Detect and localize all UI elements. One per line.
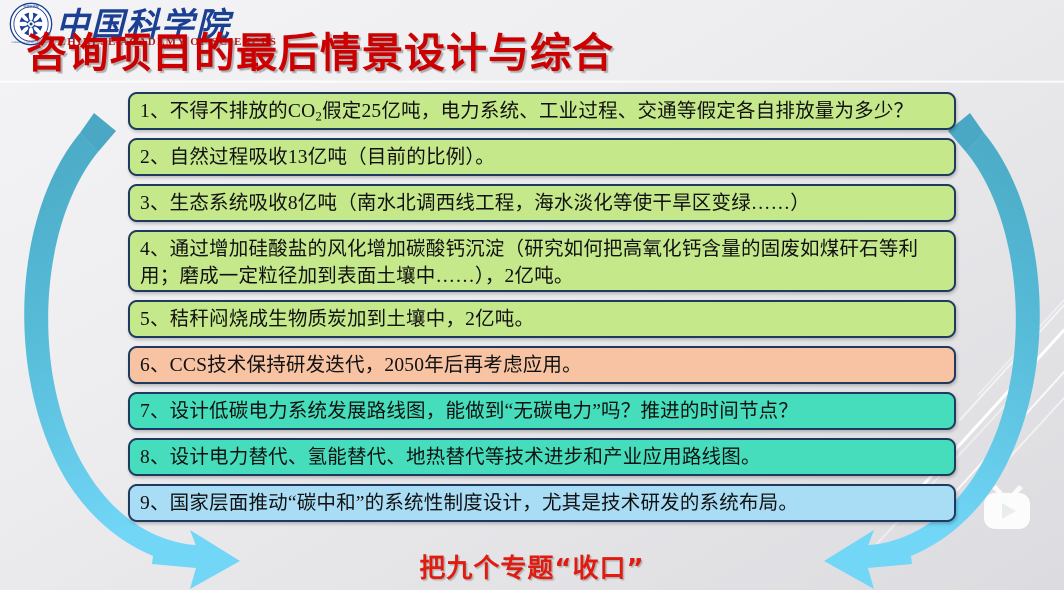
list-item-2[interactable]: 2、自然过程吸收13亿吨（目前的比例）。	[128, 138, 956, 176]
list-item-7[interactable]: 7、设计低碳电力系统发展路线图，能做到“无碳电力”吗？推进的时间节点？	[128, 392, 956, 430]
list-item-6[interactable]: 6、CCS技术保持研发迭代，2050年后再考虑应用。	[128, 346, 956, 384]
list-item-1-text-b: 假定25亿吨，电力系统、工业过程、交通等假定各自排放量为多少？	[322, 101, 913, 122]
list-item-4[interactable]: 4、通过增加硅酸盐的风化增加碳酸钙沉淀（研究如何把高氧化钙含量的固废如煤矸石等利…	[128, 230, 956, 292]
footer-summary-text: 把九个专题“收口”	[0, 548, 1064, 585]
page-title: 咨询项目的最后情景设计与综合	[26, 30, 614, 76]
list-item-9[interactable]: 9、国家层面推动“碳中和”的系统性制度设计，尤其是技术研发的系统布局。	[128, 484, 956, 522]
list-item-5[interactable]: 5、秸秆闷烧成生物质炭加到土壤中，2亿吨。	[128, 300, 956, 338]
topics-list: 1、不得不排放的CO2假定25亿吨，电力系统、工业过程、交通等假定各自排放量为多…	[128, 92, 956, 530]
list-item-1-text-a: 不得不排放的CO	[170, 101, 316, 122]
list-item-1[interactable]: 1、不得不排放的CO2假定25亿吨，电力系统、工业过程、交通等假定各自排放量为多…	[128, 92, 956, 130]
bilibili-tv-play-watermark	[979, 481, 1035, 533]
list-item-1-number: 1、	[140, 101, 170, 122]
list-item-8[interactable]: 8、设计电力替代、氢能替代、地热替代等技术进步和产业应用路线图。	[128, 438, 956, 476]
svg-text:中国科学院: 中国科学院	[23, 4, 38, 9]
slide-canvas: 中国科学院 CHINESE ACADEMY OF SCIENCES 中国科学院 …	[0, 0, 1064, 590]
list-item-3[interactable]: 3、生态系统吸收8亿吨（南水北调西线工程，海水淡化等使干旱区变绿……）	[128, 184, 956, 222]
